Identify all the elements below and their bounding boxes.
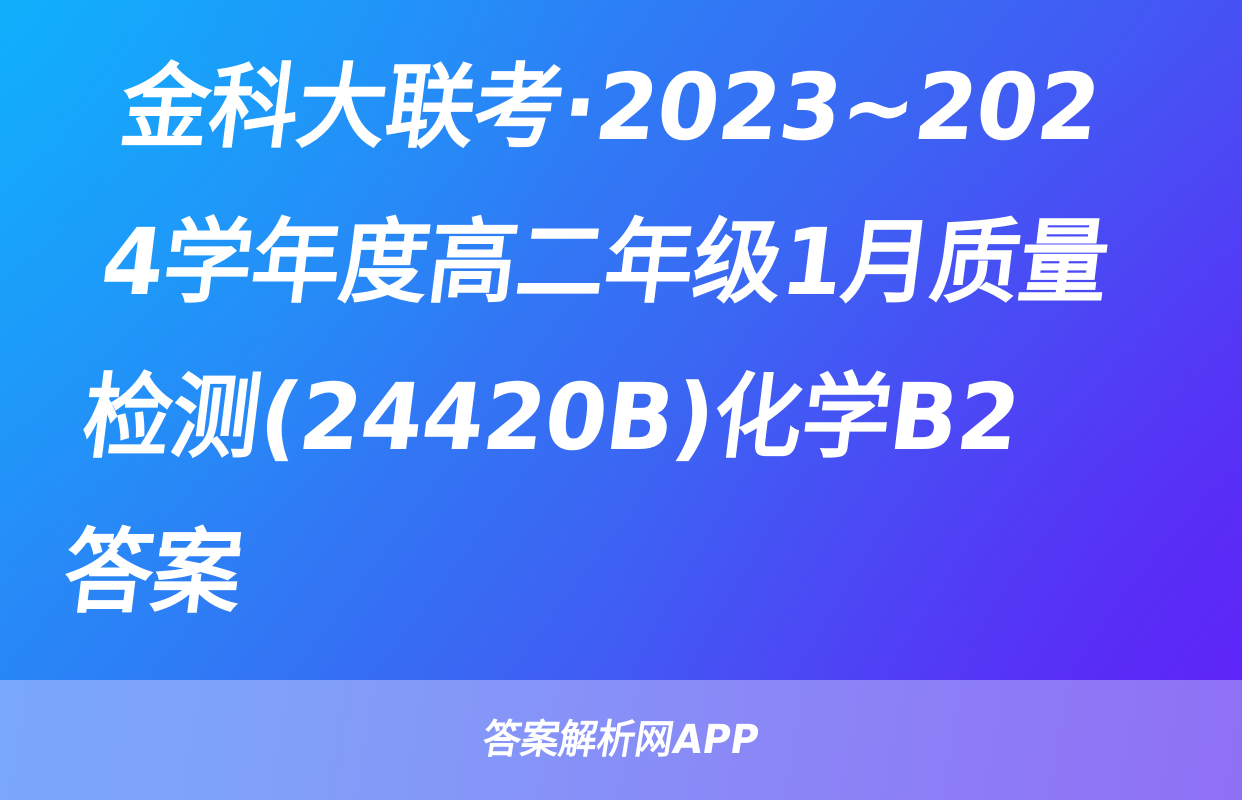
title-block: 金科大联考·2023~2024学年度高二年级1月质量检测(24420B)化学B2… xyxy=(0,0,1242,680)
watermark-band: 答案解析网APP xyxy=(0,680,1242,800)
page-title: 金科大联考·2023~2024学年度高二年级1月质量检测(24420B)化学B2… xyxy=(55,30,1150,650)
answer-cover-poster: 金科大联考·2023~2024学年度高二年级1月质量检测(24420B)化学B2… xyxy=(0,0,1242,800)
hero-gradient-panel: 金科大联考·2023~2024学年度高二年级1月质量检测(24420B)化学B2… xyxy=(0,0,1242,680)
watermark-text: 答案解析网APP xyxy=(480,720,761,760)
